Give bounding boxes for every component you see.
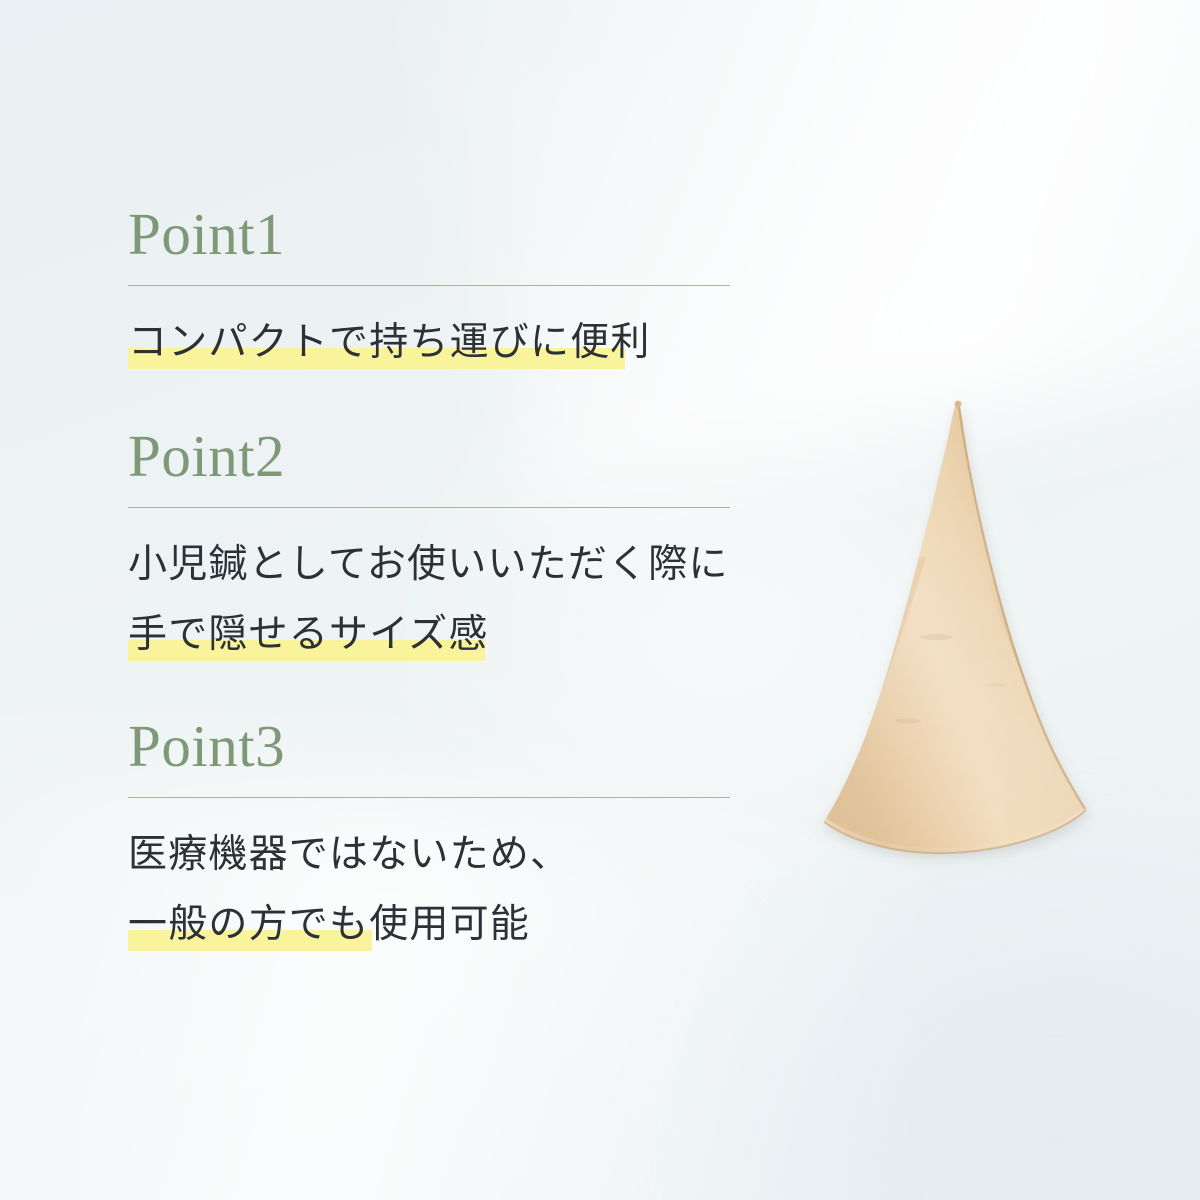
points-list: Point1 コンパクトで持ち運びに便利 Point2 小児鍼としてお使いいただ… xyxy=(128,0,768,1200)
wooden-cone-icon xyxy=(790,385,1100,875)
point-2-line-1: 小児鍼としてお使いいただく際に xyxy=(128,530,768,600)
point-1-divider xyxy=(128,285,730,286)
point-2-heading: Point2 xyxy=(128,426,768,486)
point-2-divider xyxy=(128,507,730,508)
promo-graphic: Point1 コンパクトで持ち運びに便利 Point2 小児鍼としてお使いいただ… xyxy=(0,0,1200,1200)
point-3-line-1: 医療機器ではないため、 xyxy=(128,820,768,890)
wood-grain-mark xyxy=(920,634,952,640)
cone-sheen xyxy=(790,385,1100,875)
point-2-body: 小児鍼としてお使いいただく際に 手で隠せるサイズ感 xyxy=(128,530,768,670)
point-1-line-1: コンパクトで持ち運びに便利 xyxy=(128,308,768,378)
product-image-wooden-cone xyxy=(790,385,1100,875)
point-block-2: Point2 小児鍼としてお使いいただく際に 手で隠せるサイズ感 xyxy=(128,426,768,670)
point-3-heading: Point3 xyxy=(128,716,768,776)
point-block-1: Point1 コンパクトで持ち運びに便利 xyxy=(128,204,768,378)
point-1-body: コンパクトで持ち運びに便利 xyxy=(128,308,768,378)
point-3-line-2: 一般の方でも使用可能 xyxy=(128,890,768,960)
cone-tip xyxy=(955,401,962,408)
point-3-body: 医療機器ではないため、 一般の方でも使用可能 xyxy=(128,820,768,960)
point-3-divider xyxy=(128,797,730,798)
point-block-3: Point3 医療機器ではないため、 一般の方でも使用可能 xyxy=(128,716,768,960)
wood-grain-mark xyxy=(986,683,1006,687)
point-1-heading: Point1 xyxy=(128,204,768,264)
point-2-line-2: 手で隠せるサイズ感 xyxy=(128,600,768,670)
wood-grain-mark xyxy=(895,719,921,724)
